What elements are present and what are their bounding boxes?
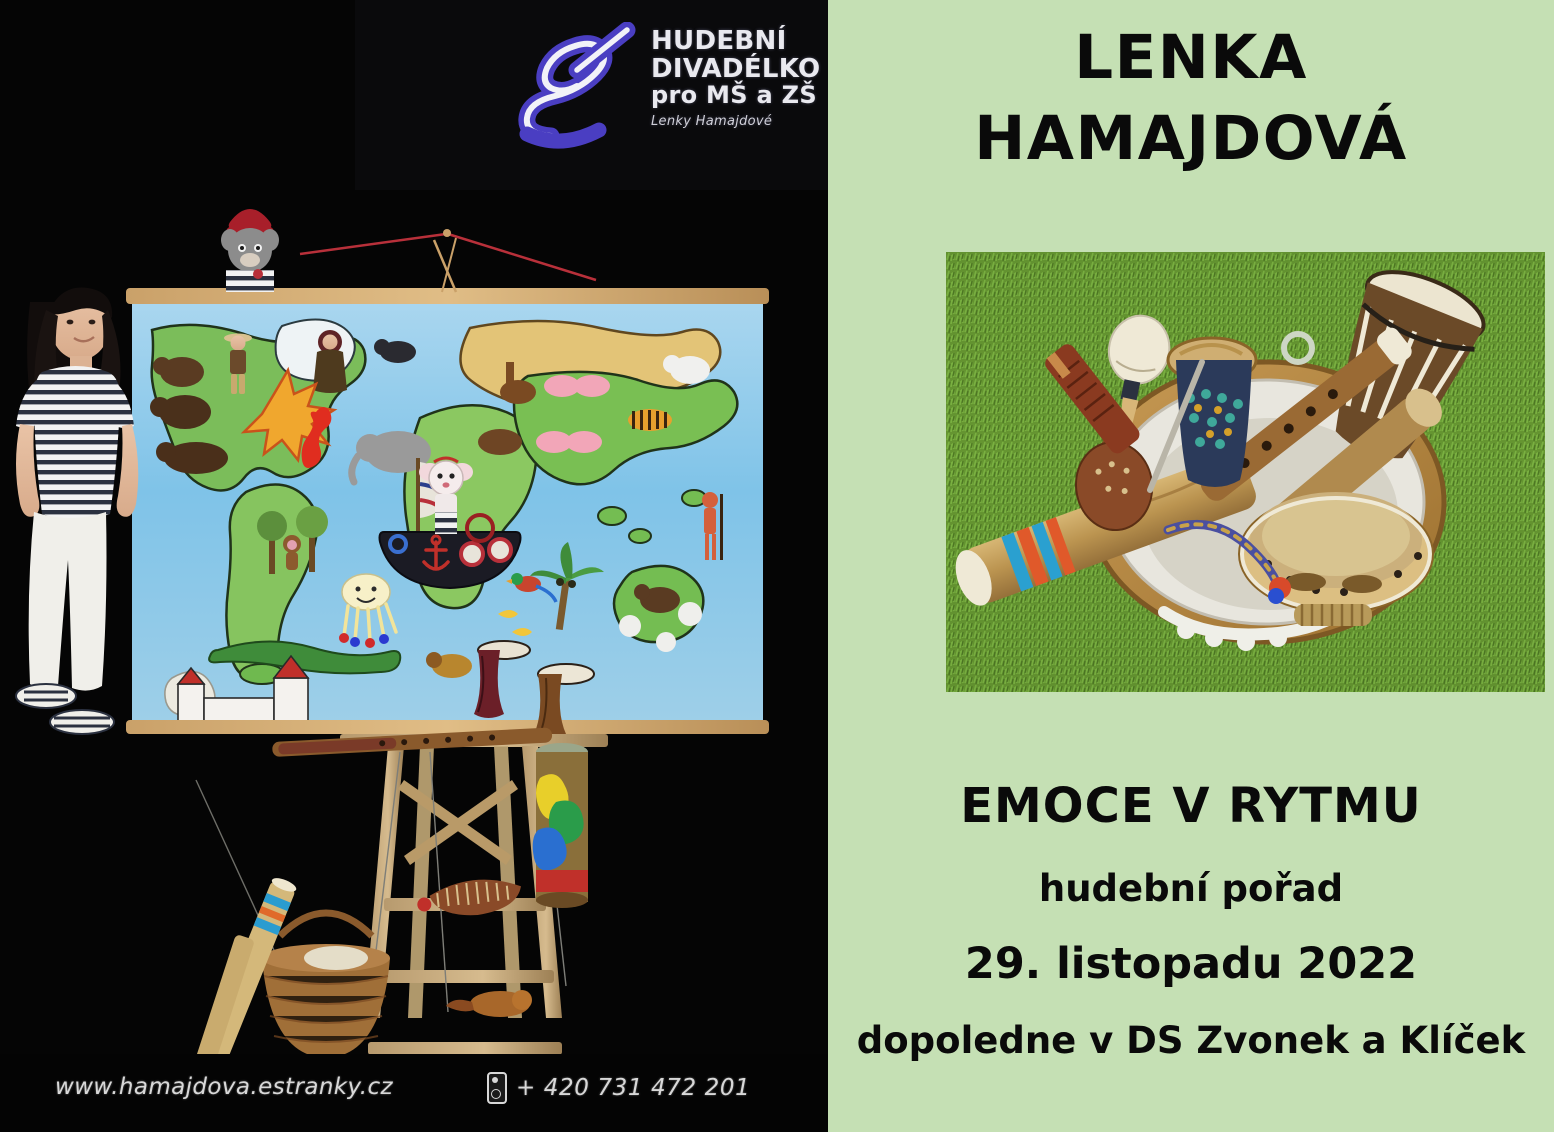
mobile-phone-icon xyxy=(487,1072,507,1104)
phone-number-text[interactable]: + 420 731 472 201 xyxy=(516,1075,750,1101)
info-panel: LENKA HAMAJDOVÁ xyxy=(828,0,1554,1132)
theatre-logo-banner: HUDEBNÍ DIVADÉLKO pro MŠ a ZŠ Lenky Hama… xyxy=(355,0,828,190)
logo-line-hudebni: HUDEBNÍ xyxy=(651,28,821,56)
logo-line-lenky-hamajdove: Lenky Hamajdové xyxy=(651,115,821,129)
performer-name: LENKA HAMAJDOVÁ xyxy=(828,18,1554,179)
program-title: EMOCE V RYTMU xyxy=(828,780,1554,833)
program-details: EMOCE V RYTMU hudební pořad 29. listopad… xyxy=(828,780,1554,1061)
performer-first-name: LENKA xyxy=(828,18,1554,99)
stylized-note-swirl-icon xyxy=(515,22,640,162)
stage-scene-illustration xyxy=(0,180,828,1132)
program-date: 29. listopadu 2022 xyxy=(828,941,1554,988)
logo-line-pro-ms-a-zs: pro MŠ a ZŠ xyxy=(651,83,821,108)
performer-last-name: HAMAJDOVÁ xyxy=(828,99,1554,180)
program-place: dopoledne v DS Zvonek a Klíček xyxy=(828,1021,1554,1062)
contact-bar: www.hamajdova.estranky.cz + 420 731 472 … xyxy=(0,1054,828,1132)
poster: HUDEBNÍ DIVADÉLKO pro MŠ a ZŠ Lenky Hama… xyxy=(0,0,1554,1132)
left-photo: HUDEBNÍ DIVADÉLKO pro MŠ a ZŠ Lenky Hama… xyxy=(0,0,828,1132)
instruments-photo xyxy=(946,252,1545,692)
logo-line-divadelko: DIVADÉLKO xyxy=(651,56,821,84)
phone-group: + 420 731 472 201 xyxy=(487,1072,750,1104)
program-subtitle: hudební pořad xyxy=(828,869,1554,910)
instruments-photo-illustration xyxy=(946,252,1545,692)
website-text[interactable]: www.hamajdova.estranky.cz xyxy=(55,1074,393,1100)
logo-text-block: HUDEBNÍ DIVADÉLKO pro MŠ a ZŠ Lenky Hama… xyxy=(651,28,821,128)
